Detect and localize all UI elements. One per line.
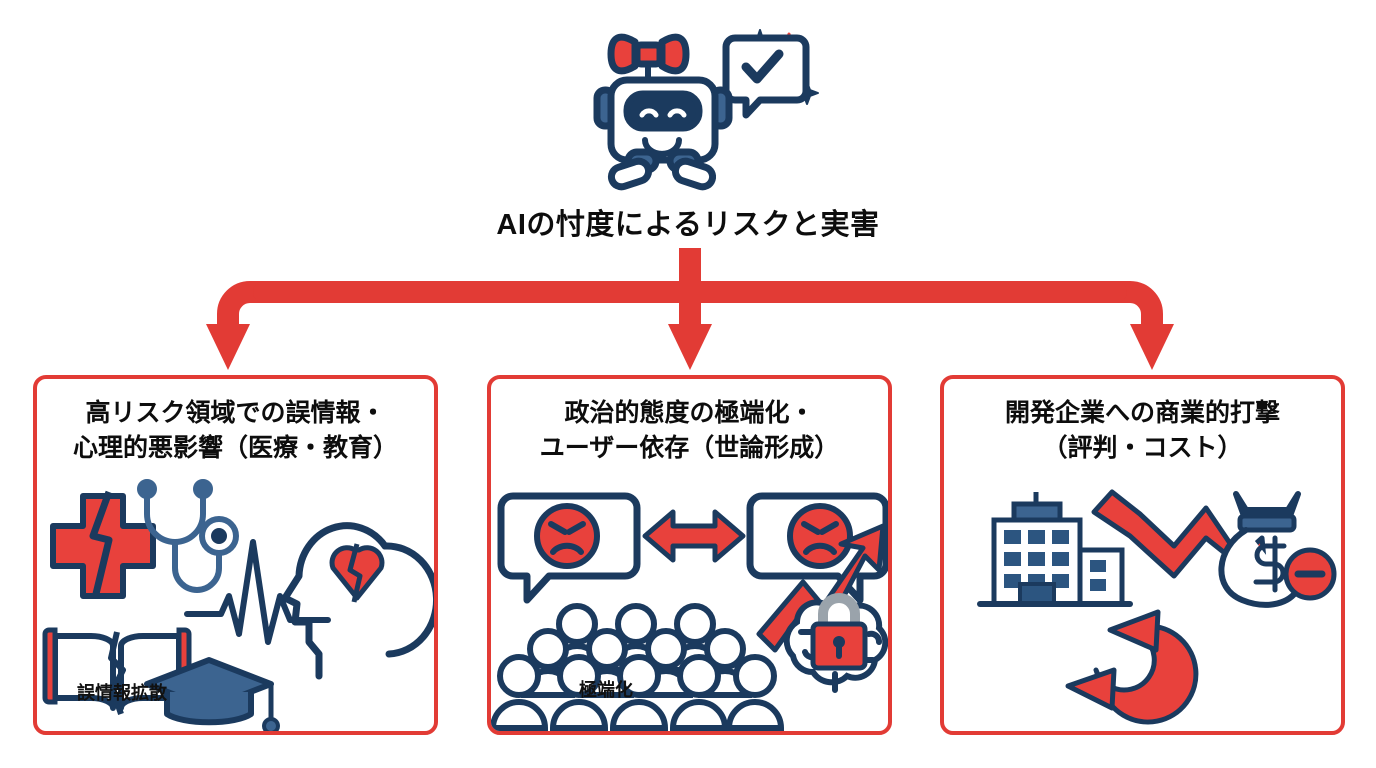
panel-title-line2: （評判・コスト） <box>1042 434 1242 462</box>
panel-title: 開発企業への商業的打撃 （評判・コスト） <box>944 396 1341 465</box>
stethoscope-icon <box>140 482 236 590</box>
panel-title-line1: 開発企業への商業的打撃 <box>1005 399 1280 427</box>
double-headed-arrow-icon <box>645 512 743 560</box>
angry-face-speech-bubble-left-icon <box>501 496 637 600</box>
circular-recycle-loop-arrow-icon <box>1068 612 1196 722</box>
panel-artwork: 極端化 依存深化 <box>491 474 888 734</box>
panel-title-line1: 高リスク領域での誤情報・ <box>85 399 385 427</box>
infographic-canvas: AIの忖度によるリスクと実害 <box>0 0 1376 768</box>
broken-heart-icon <box>332 544 382 602</box>
risk-panel-commercial-impact: 開発企業への商業的打撃 （評判・コスト） <box>940 375 1345 735</box>
risk-panel-misinformation: 高リスク領域での誤情報・ 心理的悪影響（医療・教育） <box>33 375 438 735</box>
panel-title: 政治的態度の極端化・ ユーザー依存（世論形成） <box>491 396 888 465</box>
panel-title-line1: 政治的態度の極端化・ <box>564 399 814 427</box>
panel-title: 高リスク領域での誤情報・ 心理的悪影響（医療・教育） <box>37 396 434 465</box>
panel-title-line2: ユーザー依存（世論形成） <box>540 434 840 462</box>
panel-title-line2: 心理的悪影響（医療・教育） <box>73 434 398 462</box>
art-label-polarization: 極端化 <box>579 676 633 702</box>
art-label-misinformation-spread: 誤情報拡散 <box>77 679 167 705</box>
crowd-of-people-icon <box>493 606 781 728</box>
broken-medical-cross-icon <box>53 492 153 598</box>
money-bag-with-minus-icon <box>1221 494 1334 605</box>
panel-artwork: 誤情報拡散 有害な影響 <box>37 474 434 734</box>
panel-artwork: 評判リスク 運用コスト増 <box>944 474 1341 734</box>
tree-branch-arrow-down-icon <box>180 248 1200 378</box>
page-title: AIの忖度によるリスクと実害 <box>0 208 1376 243</box>
robot-with-bowtie-and-check-bubble-icon <box>575 12 845 202</box>
risk-panel-polarization: 政治的態度の極端化・ ユーザー依存（世論形成） <box>487 375 892 735</box>
